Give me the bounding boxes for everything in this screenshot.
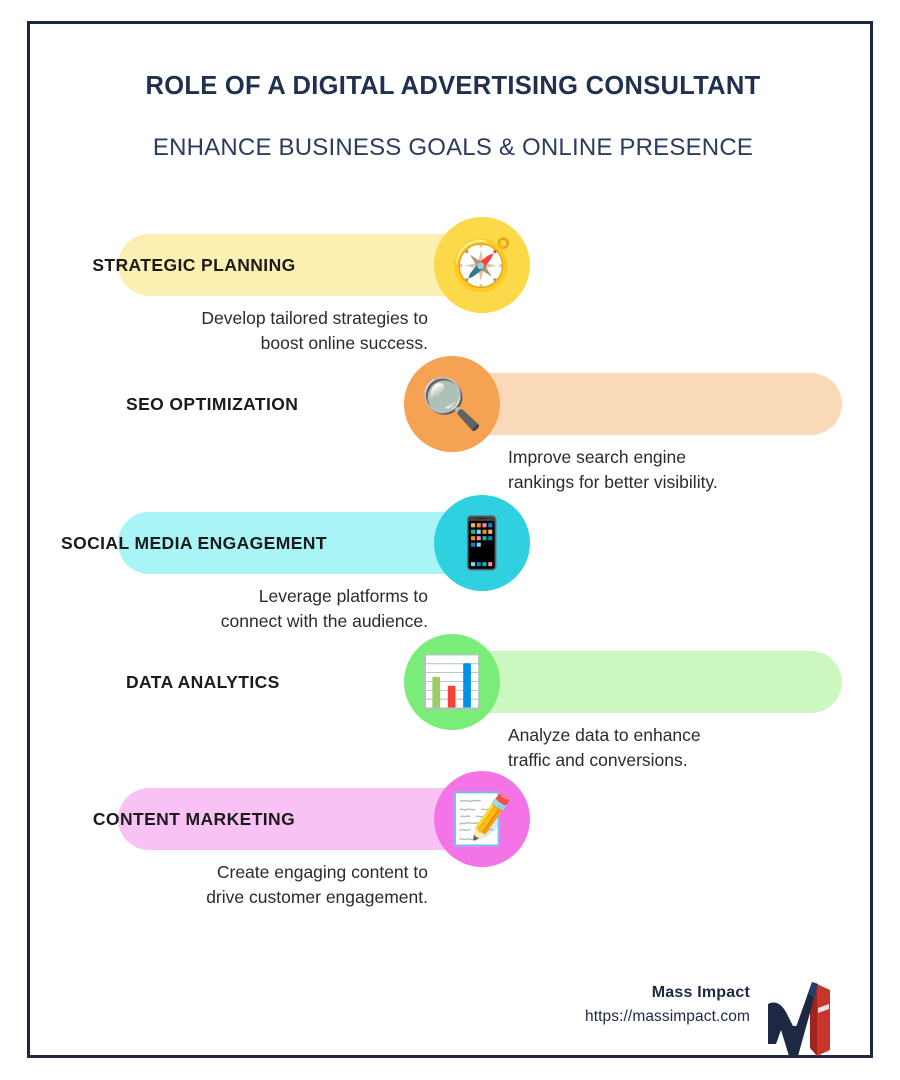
magnifying-glass-icon: 🔍 [421,379,483,429]
item-label-content-marketing: CONTENT MARKETING [30,788,402,850]
item-description-data-analytics: Analyze data to enhance traffic and conv… [508,723,838,773]
page-title: ROLE OF A DIGITAL ADVERTISING CONSULTANT [30,72,876,101]
icon-bubble-social-media-engagement: 📱 [434,495,530,591]
pill-data-analytics[interactable] [446,651,842,713]
brand-name: Mass Impact [460,984,750,1002]
infographic-poster: ROLE OF A DIGITAL ADVERTISING CONSULTANT… [0,0,900,1080]
item-label-seo-optimization: SEO OPTIMIZATION [126,373,426,435]
item-label-data-analytics: DATA ANALYTICS [126,651,426,713]
item-label-strategic-planning: STRATEGIC PLANNING [30,234,402,296]
icon-bubble-seo-optimization: 🔍 [404,356,500,452]
icon-bubble-content-marketing: 📝 [434,771,530,867]
page-subtitle: ENHANCE BUSINESS GOALS & ONLINE PRESENCE [30,134,876,162]
item-description-strategic-planning: Develop tailored strategies to boost onl… [90,306,428,356]
mass-impact-logo [762,974,842,1060]
item-content-marketing: CONTENT MARKETING 📝 Create engaging cont… [30,788,876,968]
item-description-content-marketing: Create engaging content to drive custome… [90,860,428,910]
footer-text-block: Mass Impact https://massimpact.com [460,984,750,1026]
compass-icon: 🧭 [451,240,513,290]
item-description-seo-optimization: Improve search engine rankings for bette… [508,445,838,495]
item-label-social-media-engagement: SOCIAL MEDIA ENGAGEMENT [30,512,402,574]
memo-pencil-icon: 📝 [451,794,513,844]
item-description-social-media-engagement: Leverage platforms to connect with the a… [90,584,428,634]
bar-chart-icon: 📊 [421,657,483,707]
pill-seo-optimization[interactable] [446,373,842,435]
poster-frame: ROLE OF A DIGITAL ADVERTISING CONSULTANT… [27,21,873,1058]
icon-bubble-data-analytics: 📊 [404,634,500,730]
icon-bubble-strategic-planning: 🧭 [434,217,530,313]
mobile-phone-icon: 📱 [451,518,513,568]
footer: Mass Impact https://massimpact.com [460,974,850,1064]
brand-url[interactable]: https://massimpact.com [460,1008,750,1026]
